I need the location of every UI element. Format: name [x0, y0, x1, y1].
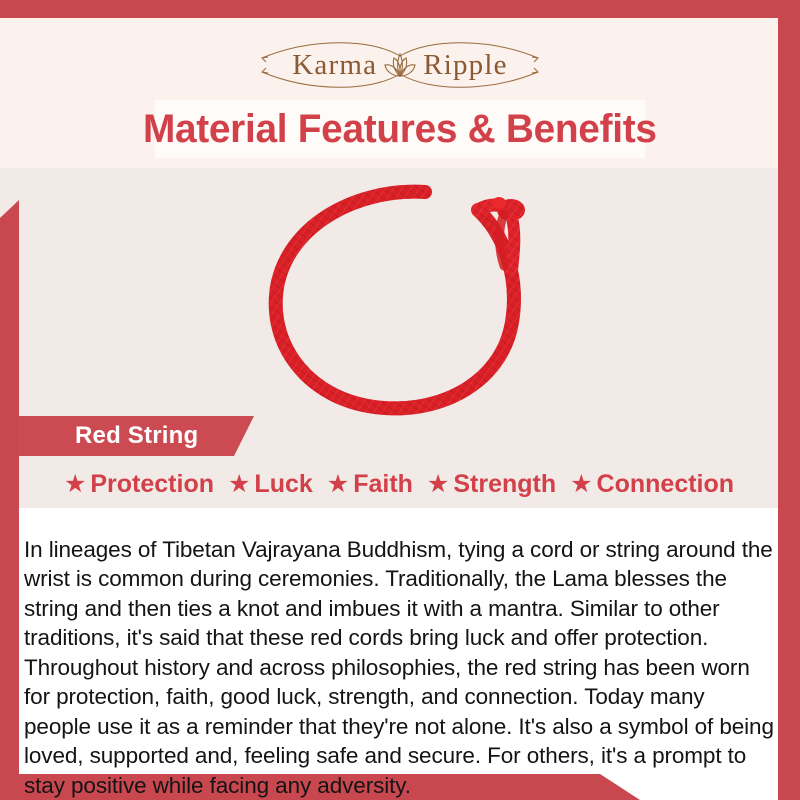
- feature-item-luck: ★ Luck: [223, 470, 318, 499]
- brand-name-right: Ripple: [423, 49, 508, 82]
- feature-label: Luck: [254, 470, 312, 499]
- infographic-card: Karma Ripple Material Features & Benefit…: [0, 0, 800, 800]
- star-icon: ★: [570, 472, 592, 497]
- brand-logo: Karma Ripple: [0, 36, 800, 94]
- feature-label: Faith: [353, 470, 413, 499]
- feature-label: Protection: [90, 470, 214, 499]
- feature-item-connection: ★ Connection: [565, 470, 739, 499]
- feature-keywords-row: ★ Protection ★ Luck ★ Faith ★ Strength ★…: [19, 464, 779, 504]
- feature-item-faith: ★ Faith: [322, 470, 418, 499]
- section-banner-red-string: Red String: [19, 416, 254, 456]
- feature-item-protection: ★ Protection: [59, 470, 219, 499]
- feature-item-strength: ★ Strength: [422, 470, 561, 499]
- section-banner-label: Red String: [75, 422, 198, 450]
- frame-border-right: [778, 0, 800, 800]
- star-icon: ★: [327, 472, 349, 497]
- lotus-icon: [383, 52, 417, 78]
- description-paragraph: In lineages of Tibetan Vajrayana Buddhis…: [24, 535, 776, 800]
- star-icon: ★: [427, 472, 449, 497]
- star-icon: ★: [64, 472, 86, 497]
- title-banner: Material Features & Benefits: [155, 100, 645, 158]
- product-image: [240, 170, 580, 430]
- star-icon: ★: [228, 472, 250, 497]
- brand-name-left: Karma: [292, 49, 377, 82]
- frame-border-left: [0, 200, 19, 800]
- feature-label: Connection: [597, 470, 735, 499]
- frame-border-top: [0, 0, 800, 18]
- feature-label: Strength: [453, 470, 556, 499]
- page-title: Material Features & Benefits: [143, 107, 657, 152]
